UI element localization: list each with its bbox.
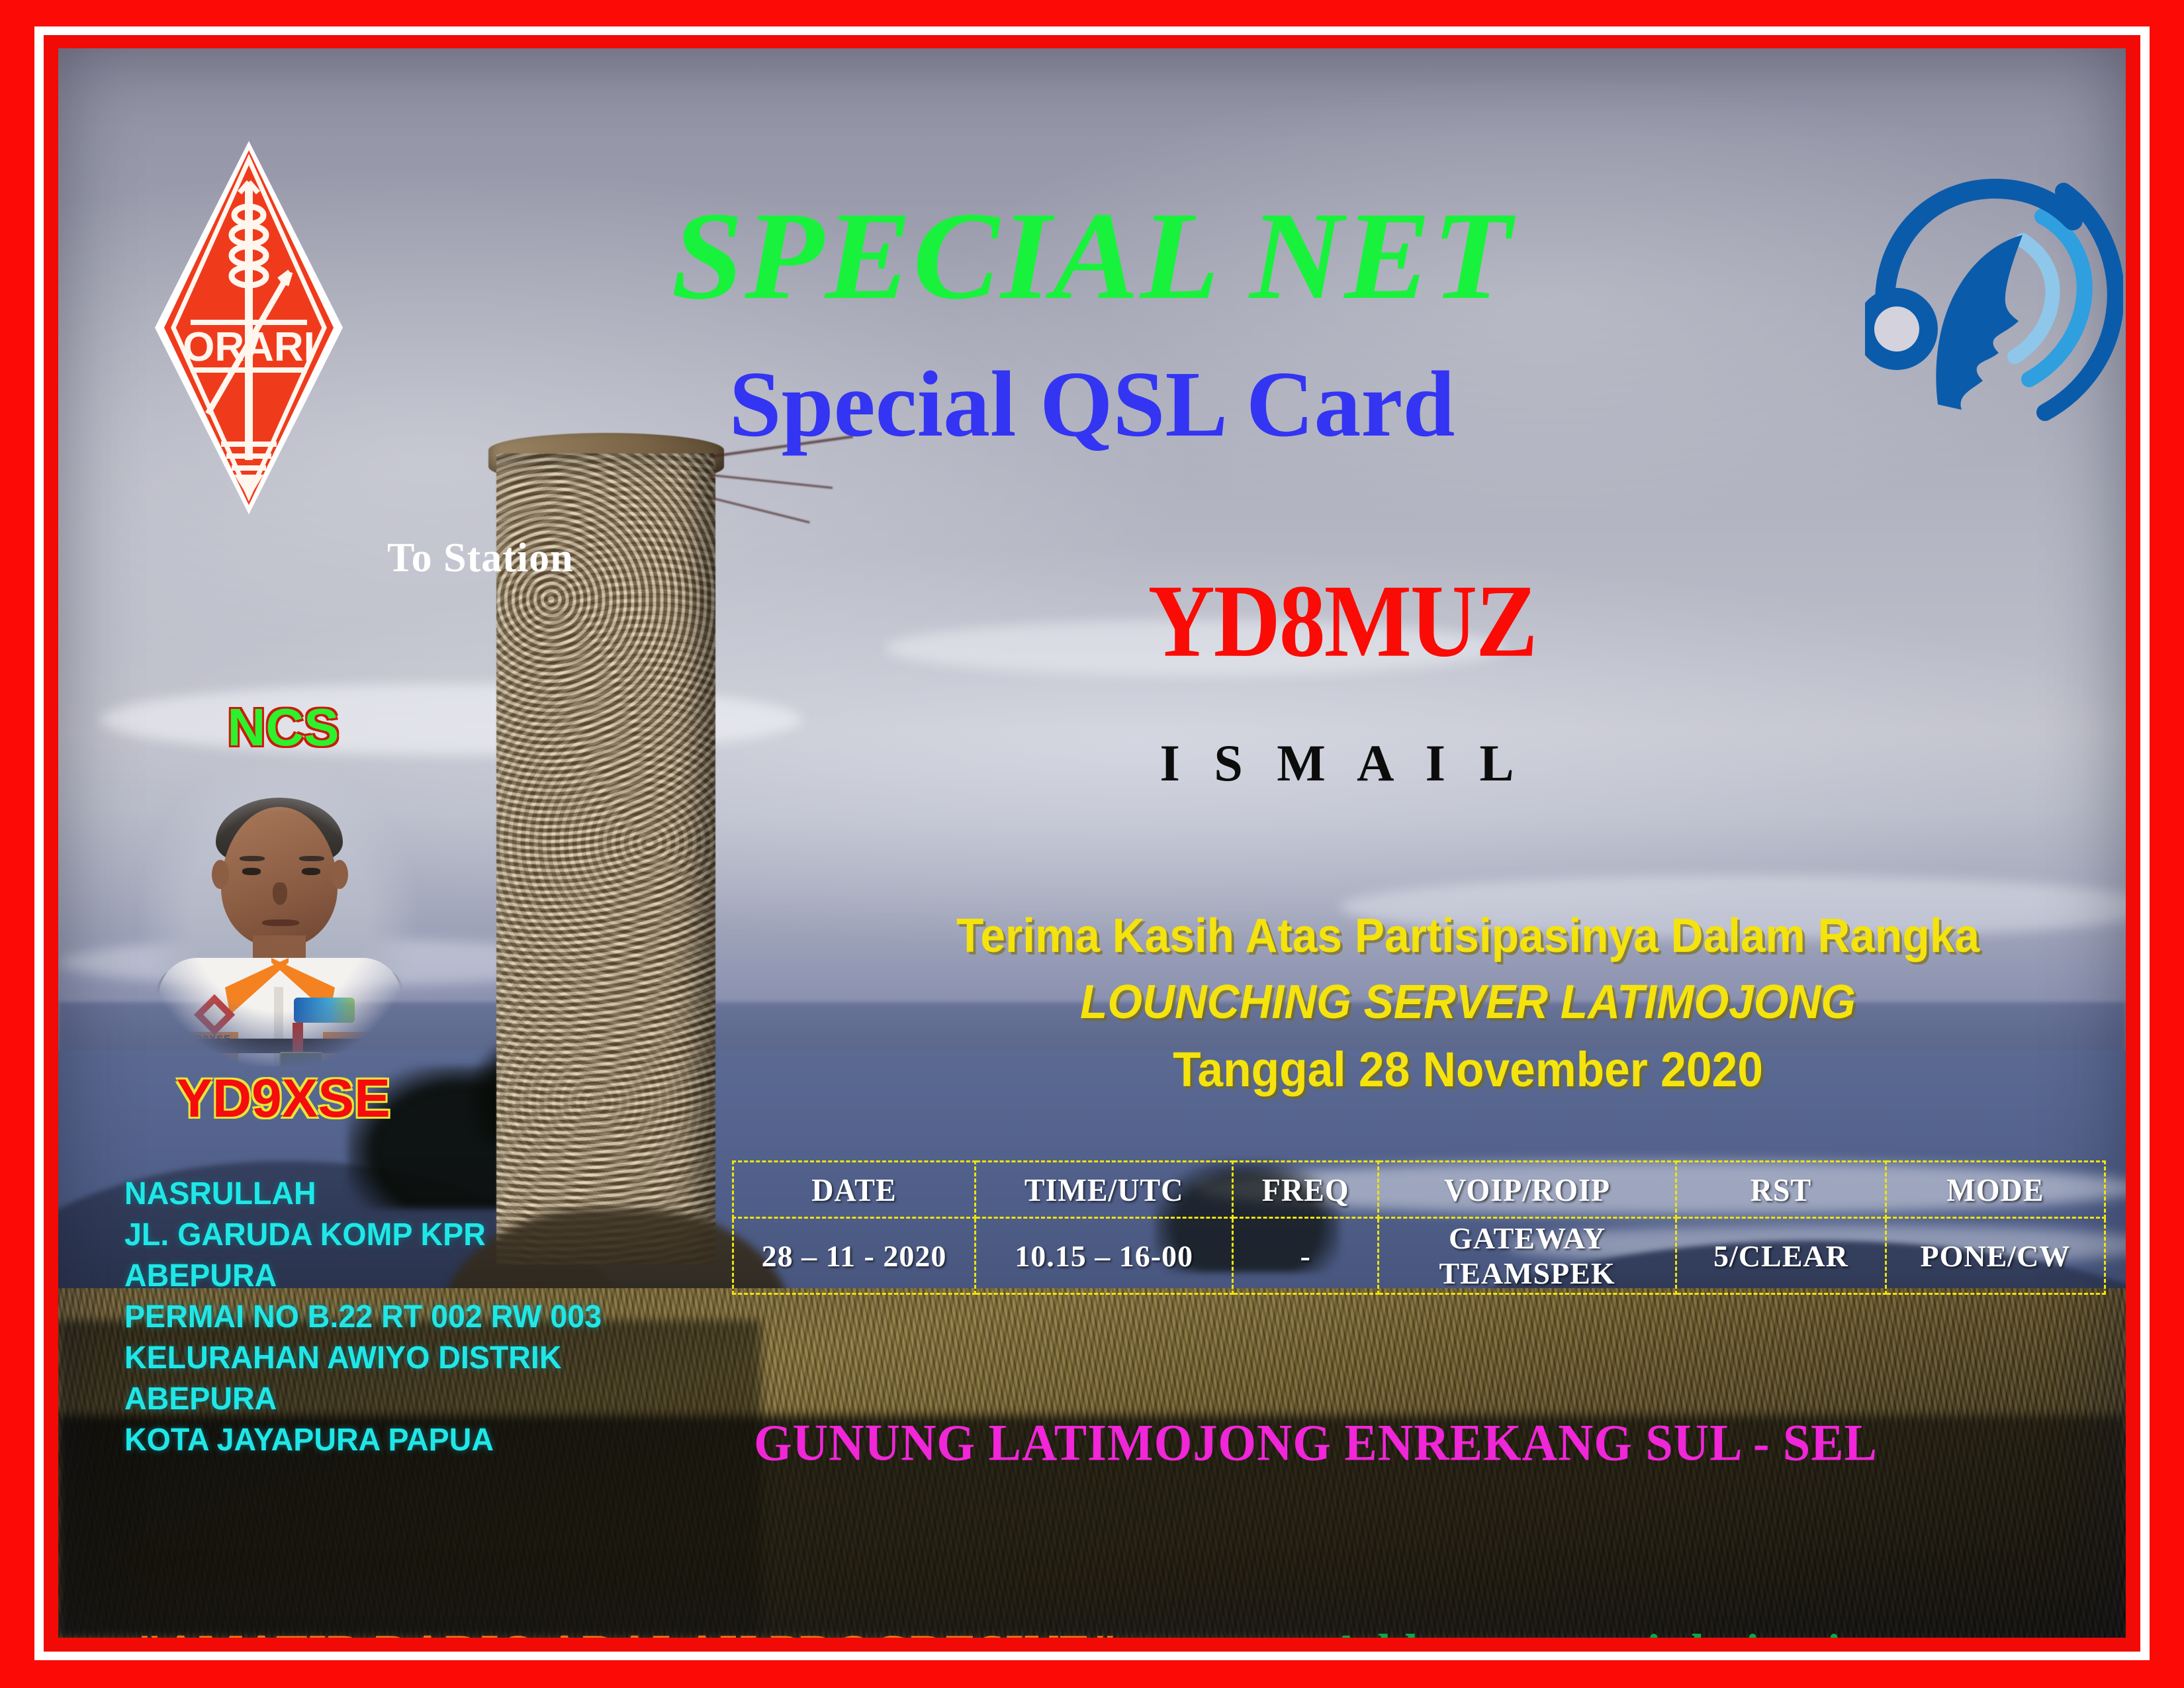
address-line: ABEPURA <box>124 1256 602 1297</box>
thanks-line-3: Tanggal 28 November 2020 <box>883 1041 2052 1098</box>
photo-ear-right <box>331 860 348 889</box>
photo-ear-left <box>212 860 229 889</box>
cell-voip-line-2: TEAMSPEK <box>1380 1256 1674 1291</box>
footer-web-address: Address : amatir.latimojong.com <box>1329 1623 2017 1638</box>
qsl-card: ORARI <box>0 0 2184 1688</box>
photo-mouth <box>262 919 299 926</box>
photo-id-card <box>279 1052 323 1066</box>
photo-eye-right <box>302 868 320 875</box>
photo-brow-left <box>240 856 265 861</box>
column-header-time: TIME/UTC <box>975 1160 1232 1219</box>
thanks-line-2: LOUNCHING SERVER LATIMOJONG <box>883 975 2052 1029</box>
background-photograph: ORARI <box>58 48 2126 1638</box>
thanks-line-1: Terima Kasih Atas Partisipasinya Dalam R… <box>883 909 2052 963</box>
ncs-label: NCS <box>151 697 416 758</box>
photo-eye-left <box>242 868 261 875</box>
qso-log-table: DATE TIME/UTC FREQ VOIP/ROIP RST MODE 28… <box>732 1160 2106 1295</box>
photo-lanyard <box>293 1023 303 1056</box>
address-line: KELURAHAN AWIYO DISTRIK <box>124 1338 602 1379</box>
to-station-label: To Station <box>387 535 574 582</box>
column-header-rst: RST <box>1676 1160 1886 1219</box>
cell-voip-line-1: GATEWAY <box>1380 1221 1674 1256</box>
cell-time: 10.15 – 16-00 <box>975 1218 1232 1294</box>
address-line: KOTA JAYAPURA PAPUA <box>124 1420 602 1461</box>
column-header-freq: FREQ <box>1233 1160 1379 1219</box>
photo-shirt-logo <box>294 998 355 1023</box>
photo-shirt-callsign: YD9XSE <box>188 1033 231 1045</box>
footer-motto: "AMATIR RADIO ADALAH PROGRESIVE" <box>136 1623 1119 1638</box>
page-subtitle: Special QSL Card <box>58 350 2126 458</box>
cell-date: 28 – 11 - 2020 <box>733 1218 976 1294</box>
table-header-row: DATE TIME/UTC FREQ VOIP/ROIP RST MODE <box>733 1162 2105 1218</box>
recipient-callsign: YD8MUZ <box>1024 561 1660 680</box>
ncs-operator-photo: YD9XSE <box>136 769 421 1066</box>
photo-brow-right <box>299 856 324 861</box>
table-row: 28 – 11 - 2020 10.15 – 16-00 - GATEWAY T… <box>733 1218 2105 1294</box>
page-title: SPECIAL NET <box>58 184 2126 328</box>
column-header-mode: MODE <box>1886 1160 2105 1219</box>
ncs-callsign: YD9XSE <box>138 1068 429 1130</box>
address-line: JL. GARUDA KOMP KPR <box>124 1215 602 1256</box>
cell-freq: - <box>1233 1218 1379 1294</box>
sender-address-block: NASRULLAH JL. GARUDA KOMP KPR ABEPURA PE… <box>124 1174 602 1461</box>
location-caption: GUNUNG LATIMOJONG ENREKANG SUL - SEL <box>687 1413 1944 1473</box>
cell-rst: 5/CLEAR <box>1676 1218 1886 1294</box>
photo-nose <box>273 882 287 905</box>
address-line: PERMAI NO B.22 RT 002 RW 003 <box>124 1297 602 1338</box>
address-line: ABEPURA <box>124 1379 602 1420</box>
address-line: NASRULLAH <box>124 1174 602 1215</box>
frame-inner-red: ORARI <box>44 35 2140 1652</box>
column-header-voip: VOIP/ROIP <box>1379 1160 1676 1219</box>
cell-mode: PONE/CW <box>1886 1218 2105 1294</box>
frame-white-gap: ORARI <box>34 26 2150 1660</box>
operator-name: I S M A I L <box>1024 733 1660 793</box>
cell-voip: GATEWAY TEAMSPEK <box>1379 1218 1676 1294</box>
column-header-date: DATE <box>733 1160 976 1219</box>
